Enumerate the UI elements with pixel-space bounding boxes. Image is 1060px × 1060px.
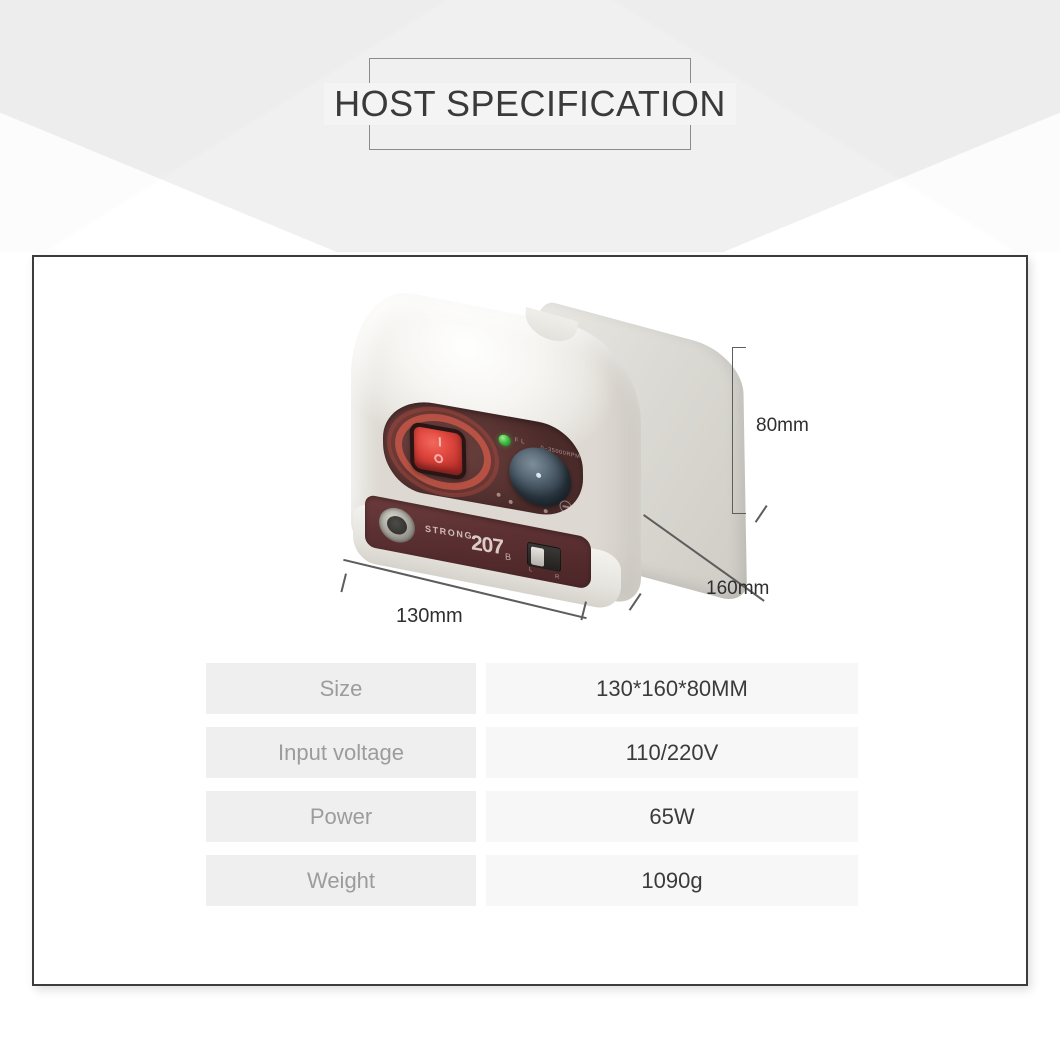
title-frame-stub-bottom-right [690,123,691,150]
title-frame-stub-bottom-left [369,123,370,150]
spec-value-cell: 130*160*80MM [486,663,858,714]
handpiece-connector-socket[interactable] [379,505,415,546]
power-off-mark [434,453,443,464]
content-frame: F L 0~35000RPM STRONG 207 B [32,255,1028,986]
page-title: HOST SPECIFICATION [324,83,736,125]
knob-scale-icon [559,500,571,514]
title-frame-stub-top-right [690,58,691,85]
model-number-label: 207 [471,531,504,560]
dimension-bracket-height [732,347,746,514]
dimension-label-depth: 160mm [706,578,769,600]
table-row: Power 65W [206,791,858,842]
title-bracket-frame: HOST SPECIFICATION [369,58,691,150]
spec-label-cell: Power [206,791,476,842]
dimension-label-width: 130mm [396,605,463,628]
spec-label-cell: Input voltage [206,727,476,778]
specification-table: Size 130*160*80MM Input voltage 110/220V… [206,663,858,906]
page-root: HOST SPECIFICATION [0,0,1060,1060]
knob-tick-mark [497,492,501,497]
product-image-stage: F L 0~35000RPM STRONG 207 B [34,257,1026,657]
brand-name-label: STRONG [425,524,473,542]
knob-tick-mark [509,500,513,505]
dimension-label-height: 80mm [756,415,809,437]
page-title-container: HOST SPECIFICATION [0,54,1060,154]
power-led-indicator [499,434,511,447]
dimension-bracket-width [346,559,584,619]
knob-tick-mark [544,509,548,514]
spec-label-cell: Size [206,663,476,714]
spec-value-cell: 1090g [486,855,858,906]
panel-print-direction: F L [515,437,526,445]
spec-value-cell: 110/220V [486,727,858,778]
spec-value-cell: 65W [486,791,858,842]
power-on-mark [439,437,441,446]
dimension-line-width [343,559,586,619]
table-row: Size 130*160*80MM [206,663,858,714]
power-switch-button[interactable] [410,421,467,481]
knob-indicator-dot [536,472,541,478]
title-frame-stub-top-left [369,58,370,85]
table-row: Weight 1090g [206,855,858,906]
table-row: Input voltage 110/220V [206,727,858,778]
spec-label-cell: Weight [206,855,476,906]
